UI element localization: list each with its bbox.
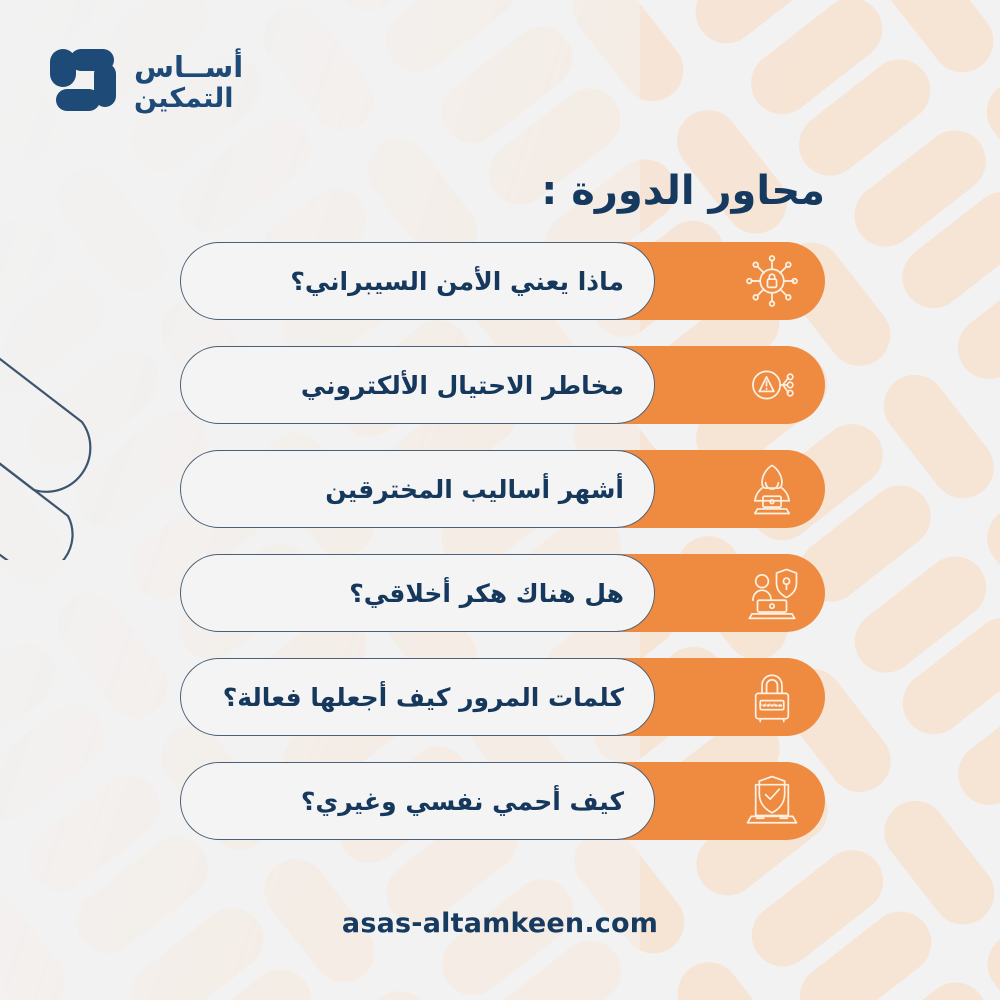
- svg-text:*: *: [763, 701, 767, 711]
- topic-label: هل هناك هكر أخلاقي؟: [181, 579, 628, 608]
- brand-logo[interactable]: أســاس التمكين: [50, 38, 250, 128]
- interlocking-squares-logo-icon: [50, 45, 120, 121]
- topic-label-pill: مخاطر الاحتيال الألكتروني: [180, 346, 655, 424]
- topic-label: كيف أحمي نفسي وغيري؟: [181, 787, 628, 816]
- brand-line-1: أســاس: [134, 53, 243, 83]
- topic-label: أشهر أساليب المخترقين: [181, 475, 628, 504]
- topic-label-pill: هل هناك هكر أخلاقي؟: [180, 554, 655, 632]
- topic-label-pill: أشهر أساليب المخترقين: [180, 450, 655, 528]
- topic-row[interactable]: كلمات المرور كيف أجعلها فعالة؟ ** **: [180, 658, 825, 736]
- poster-canvas: أســاس التمكين محاور الدورة : ماذا يعني …: [0, 0, 1000, 1000]
- page-title: محاور الدورة :: [541, 168, 825, 214]
- brand-wordmark: أســاس التمكين: [134, 53, 243, 112]
- topic-row[interactable]: كيف أحمي نفسي وغيري؟: [180, 762, 825, 840]
- brand-line-2: التمكين: [134, 85, 234, 113]
- topic-label-pill: ماذا يعني الأمن السيبراني؟: [180, 242, 655, 320]
- person-laptop-shield-icon: [741, 562, 803, 624]
- topic-label-pill: كيف أحمي نفسي وغيري؟: [180, 762, 655, 840]
- svg-text:*: *: [768, 701, 772, 711]
- svg-text:*: *: [772, 701, 776, 711]
- topic-label-pill: كلمات المرور كيف أجعلها فعالة؟: [180, 658, 655, 736]
- decorative-outline-shape: [0, 330, 162, 560]
- laptop-shield-check-icon: [741, 770, 803, 832]
- topics-list: ماذا يعني الأمن السيبراني؟: [180, 242, 825, 862]
- website-footer[interactable]: asas-altamkeen.com: [0, 908, 1000, 939]
- topic-row[interactable]: أشهر أساليب المخترقين: [180, 450, 825, 528]
- topic-label: كلمات المرور كيف أجعلها فعالة؟: [181, 683, 628, 712]
- topic-row[interactable]: هل هناك هكر أخلاقي؟: [180, 554, 825, 632]
- topic-row[interactable]: مخاطر الاحتيال الألكتروني: [180, 346, 825, 424]
- topic-label: ماذا يعني الأمن السيبراني؟: [181, 267, 628, 296]
- topic-row[interactable]: ماذا يعني الأمن السيبراني؟: [180, 242, 825, 320]
- warning-triangle-circuit-icon: [741, 354, 803, 416]
- hooded-hacker-laptop-icon: [741, 458, 803, 520]
- topic-label: مخاطر الاحتيال الألكتروني: [181, 371, 628, 400]
- cyber-lock-circuit-icon: [741, 250, 803, 312]
- svg-text:*: *: [759, 701, 763, 711]
- padlock-password-asterisks-icon: ** **: [741, 666, 803, 728]
